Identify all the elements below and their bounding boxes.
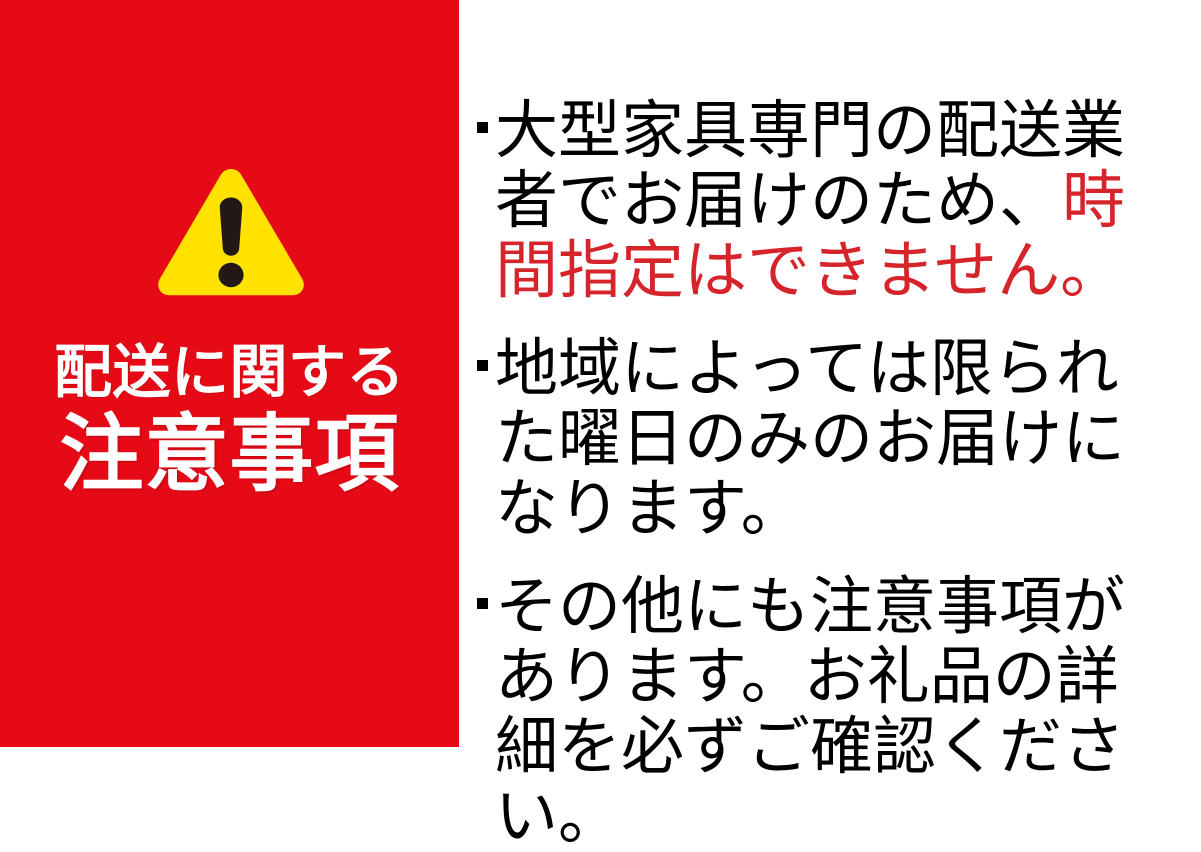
note-1-prefix: 大型家具専門の配送業者でお届けのため、 xyxy=(495,96,1125,236)
notes-panel: 大型家具専門の配送業者でお届けのため、時間指定はできません。 地域によっては限ら… xyxy=(459,0,1201,747)
left-red-panel: 配送に関する 注意事項 xyxy=(0,0,459,747)
note-text-2: 地域によっては限られた曜日のみのお届けになります。 xyxy=(495,334,1153,544)
note-2-prefix: 地域によっては限られた曜日のみのお届けになります。 xyxy=(495,334,1125,544)
warning-triangle-icon xyxy=(156,166,306,300)
note-item-1: 大型家具専門の配送業者でお届けのため、時間指定はできません。 xyxy=(477,96,1201,306)
note-text-3: その他にも注意事項があります。お礼品の詳細を必ずご確認ください。 xyxy=(495,572,1153,852)
note-item-3: その他にも注意事項があります。お礼品の詳細を必ずご確認ください。 xyxy=(477,572,1201,852)
note-item-2: 地域によっては限られた曜日のみのお届けになります。 xyxy=(477,334,1201,544)
square-bullet-icon xyxy=(477,122,488,133)
note-text-1: 大型家具専門の配送業者でお届けのため、時間指定はできません。 xyxy=(495,96,1153,306)
delivery-notice-banner: 配送に関する 注意事項 大型家具専門の配送業者でお届けのため、時間指定はできませ… xyxy=(0,0,1201,747)
headline-line-2: 注意事項 xyxy=(0,408,459,500)
page-title: 配送に関する 注意事項 xyxy=(0,340,459,500)
square-bullet-icon xyxy=(477,598,488,609)
square-bullet-icon xyxy=(477,360,488,371)
headline-line-1: 配送に関する xyxy=(0,340,459,406)
note-3-prefix: その他にも注意事項があります。お礼品の詳細を必ずご確認ください。 xyxy=(495,572,1125,852)
